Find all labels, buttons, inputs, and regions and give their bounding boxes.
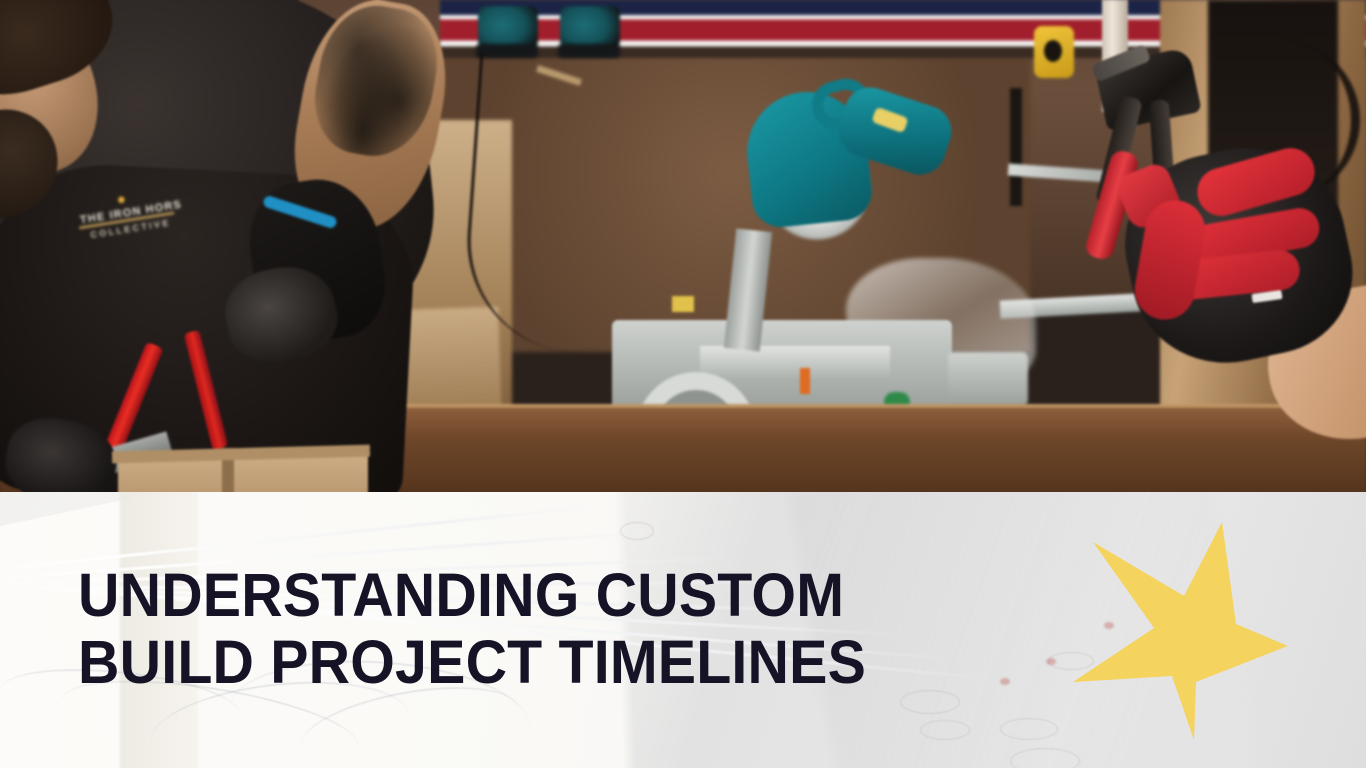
page-title: UNDERSTANDING CUSTOM BUILD PROJECT TIMEL…	[78, 562, 918, 696]
warning-label	[672, 296, 694, 312]
orange-marker	[800, 368, 810, 394]
tape-measure-icon	[1034, 26, 1074, 78]
miter-saw-table	[700, 346, 890, 382]
tshirt-logo: THE IRON HORSE COLLECTIVE	[74, 190, 182, 242]
bench-mark	[920, 720, 970, 740]
metal-parts	[948, 352, 1028, 406]
bench-stain	[1000, 678, 1010, 685]
page-title-line-2: BUILD PROJECT TIMELINES	[78, 629, 868, 696]
bench-mark	[620, 522, 654, 540]
decorative-star	[1040, 500, 1366, 768]
blog-hero-banner: THE IRON HORSE COLLECTIVE	[0, 0, 1366, 768]
page-title-line-1: UNDERSTANDING CUSTOM	[78, 562, 868, 629]
framing-square	[1010, 88, 1022, 206]
five-pointed-star-icon	[1073, 522, 1288, 740]
